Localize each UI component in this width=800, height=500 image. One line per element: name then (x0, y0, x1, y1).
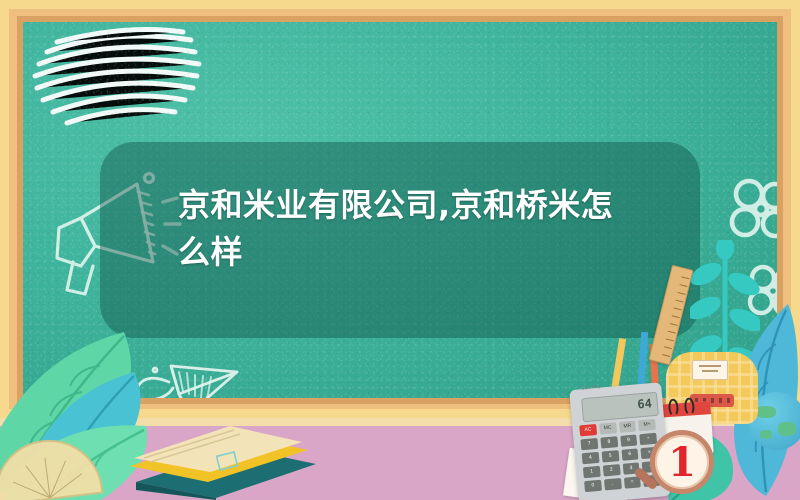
magnifier-lens: 1 (650, 430, 714, 494)
magnifying-glass: 1 (650, 430, 714, 494)
calculator-key[interactable]: 2 (603, 464, 621, 476)
stacked-books (120, 420, 320, 500)
calculator-key[interactable]: 8 (600, 436, 618, 448)
calculator-key[interactable]: 1 (583, 466, 601, 478)
calculator-key[interactable]: 4 (582, 452, 600, 464)
calculator-key[interactable]: . (604, 478, 622, 490)
flower-chalk-icon-a (723, 174, 777, 250)
calculator-display-value: 64 (637, 396, 653, 411)
calculator-key[interactable]: 5 (601, 450, 619, 462)
calculator-key[interactable]: 6 (621, 448, 639, 460)
calculator-key[interactable]: MR (619, 421, 637, 433)
calculator-key[interactable]: AC (579, 424, 597, 436)
page-root: 京和米业有限公司,京和桥米怎么样 (0, 0, 800, 500)
backpack-name-tag (692, 360, 728, 380)
calculator-key[interactable]: 7 (580, 438, 598, 450)
page-title: 京和米业有限公司,京和桥米怎么样 (178, 182, 638, 276)
calculator-key[interactable]: 9 (620, 434, 638, 446)
calculator-key[interactable]: 0 (584, 480, 602, 492)
magnifier-number: 1 (655, 435, 709, 489)
calculator-key[interactable]: MC (599, 422, 617, 434)
